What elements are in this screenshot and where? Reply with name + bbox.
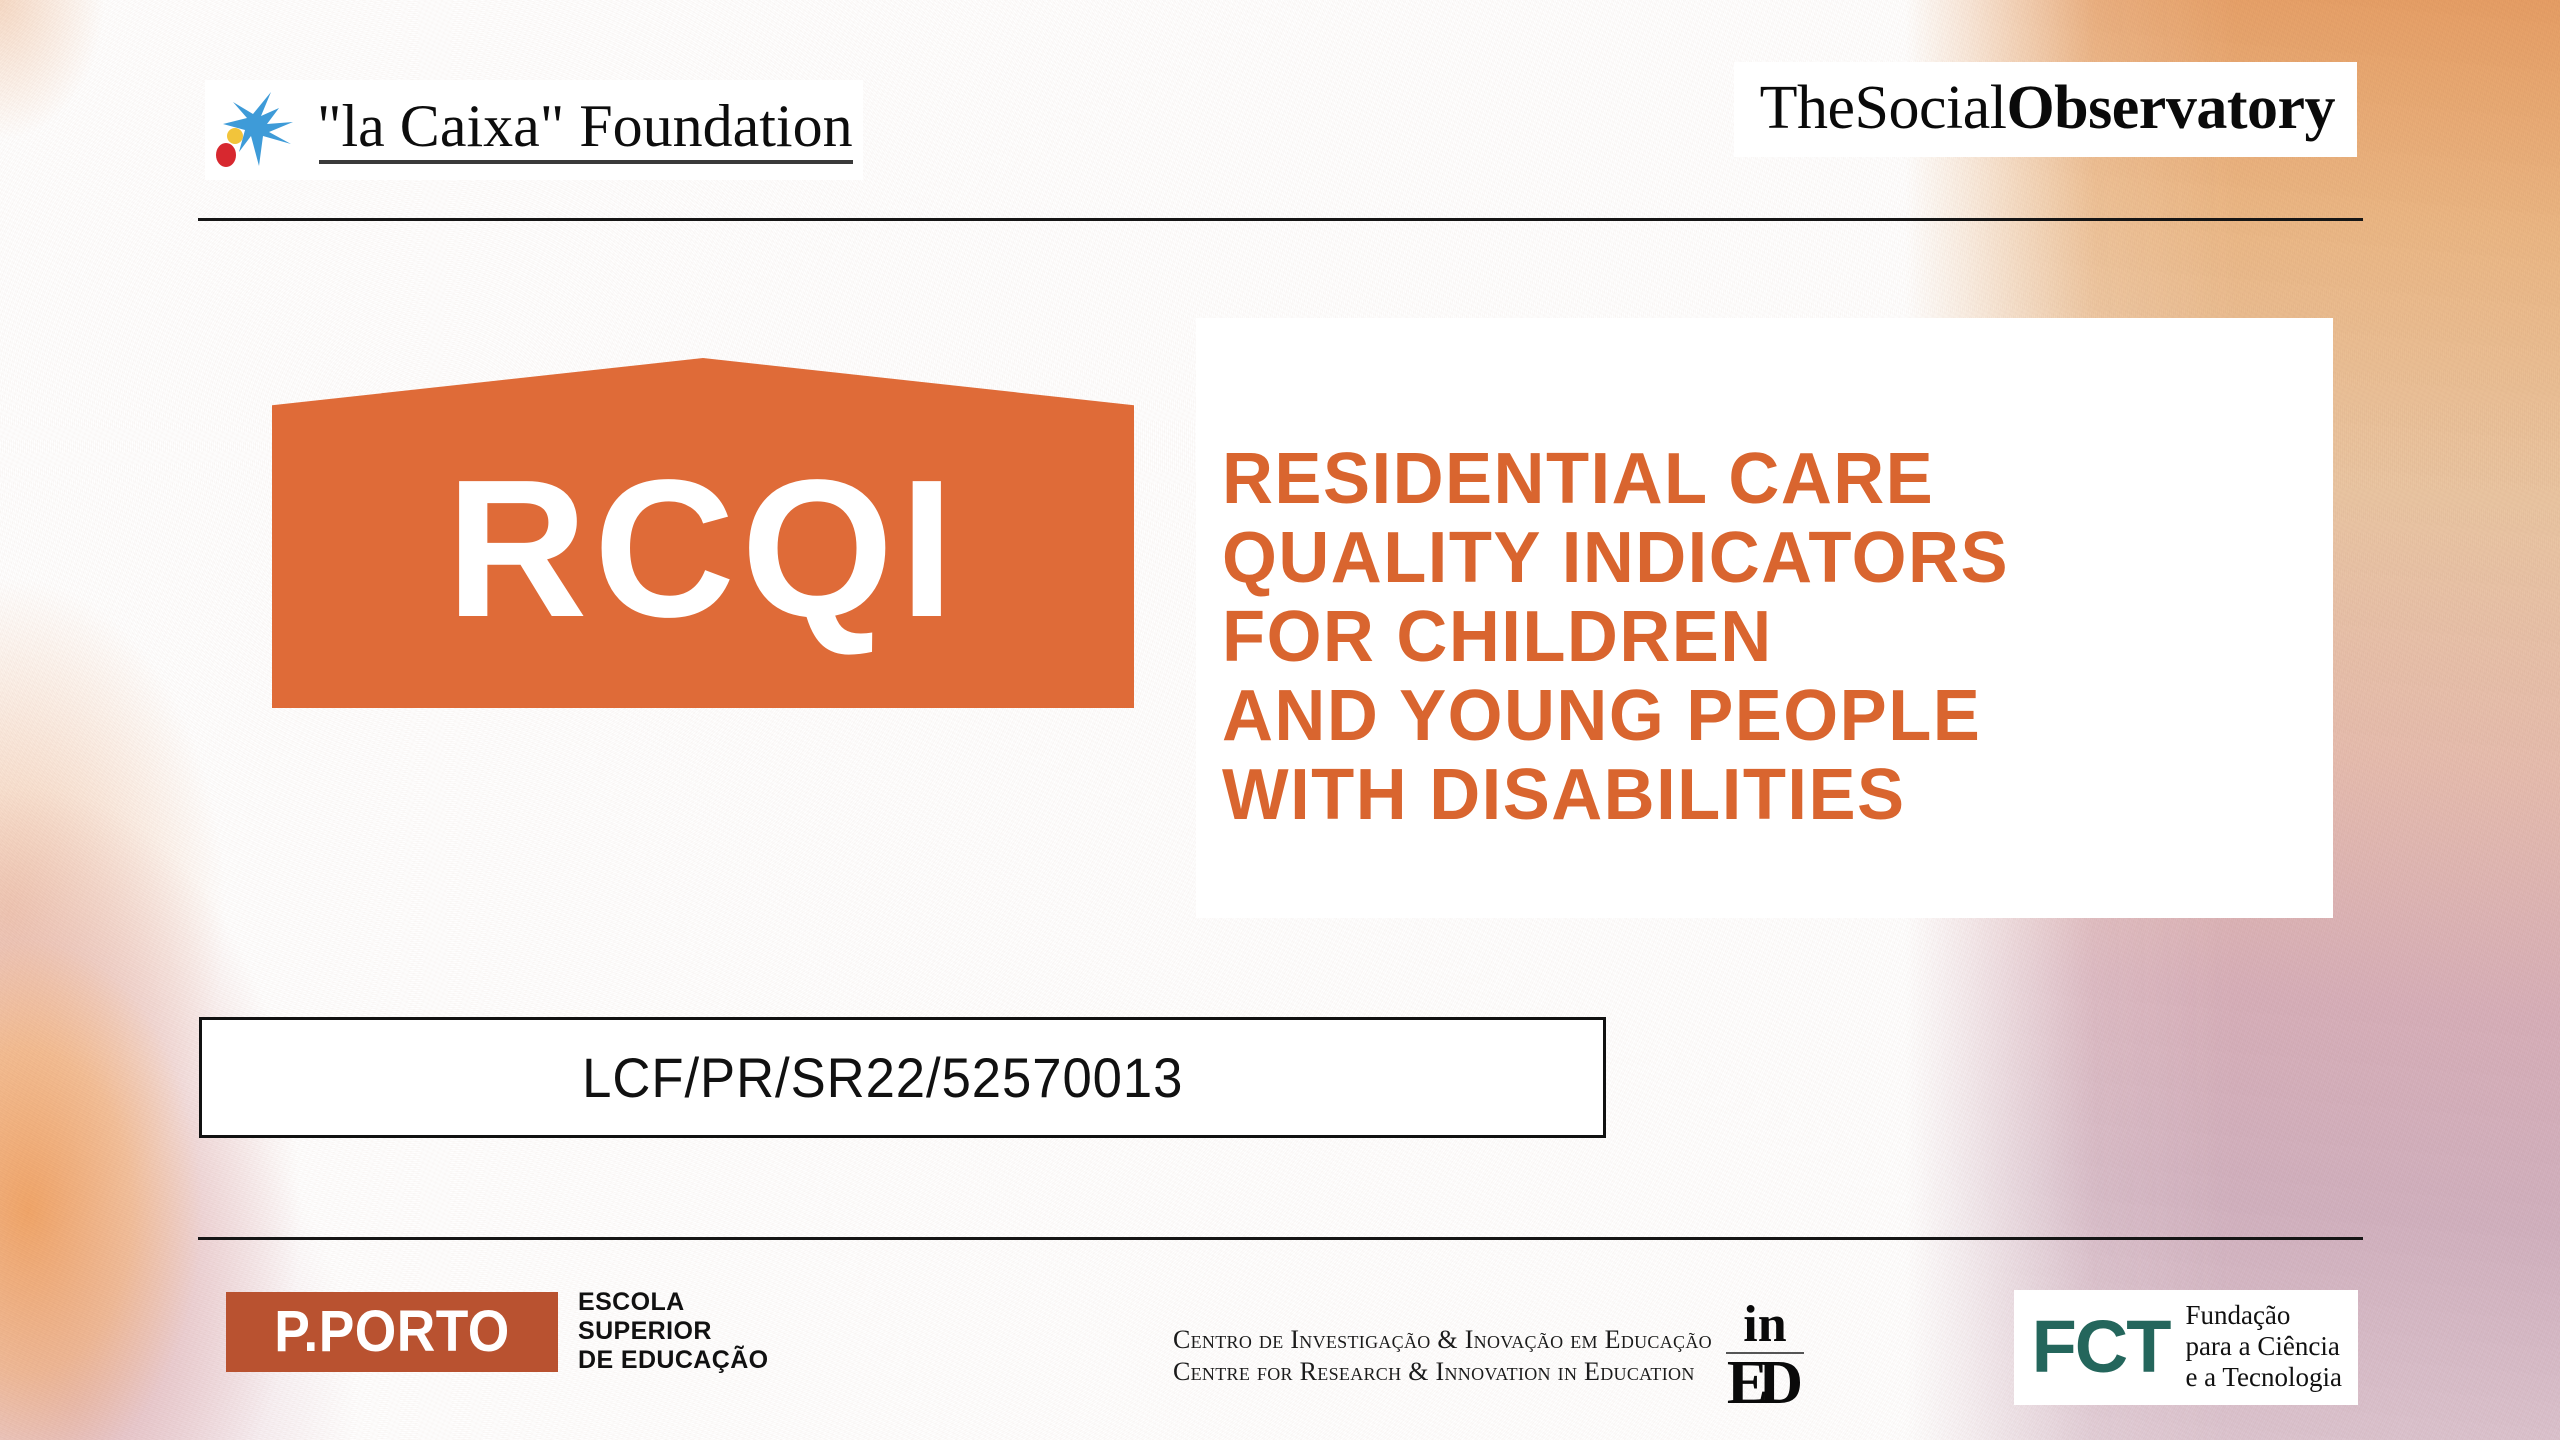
slide-canvas: "la Caixa" Foundation TheSocialObservato…	[0, 0, 2560, 1440]
grant-code-text: LCF/PR/SR22/52570013	[582, 1045, 1183, 1110]
title-line-3: FOR CHILDREN	[1222, 598, 2329, 677]
rcqi-logo: RCQI	[272, 358, 1134, 708]
pporto-subtitle-line-3: DE EDUCAÇÃO	[578, 1346, 769, 1375]
ined-monogram-bottom: ED	[1726, 1354, 1804, 1412]
fct-subtitle-line-2: para a Ciência	[2185, 1331, 2342, 1362]
title-line-4: AND YOUNG PEOPLE	[1222, 677, 2329, 756]
ined-logo: Centro de Investigação & Inovação em Edu…	[1173, 1300, 1804, 1412]
pporto-subtitle: ESCOLA SUPERIOR DE EDUCAÇÃO	[578, 1288, 769, 1375]
social-observatory-logo: TheSocialObservatory	[1734, 62, 2357, 157]
ined-monogram-top: in	[1726, 1300, 1804, 1350]
ined-line-portuguese: Centro de Investigação & Inovação em Edu…	[1173, 1324, 1712, 1356]
title-line-1: RESIDENTIAL CARE	[1222, 440, 2329, 519]
title-line-5: WITH DISABILITIES	[1222, 756, 2329, 835]
observatory-suffix: Observatory	[2006, 74, 2335, 142]
page-title: RESIDENTIAL CARE QUALITY INDICATORS FOR …	[1222, 440, 2352, 835]
pporto-subtitle-line-1: ESCOLA	[578, 1288, 769, 1317]
fct-acronym: FCT	[2032, 1310, 2170, 1384]
observatory-prefix: TheSocial	[1760, 74, 2007, 142]
header-divider	[198, 218, 2363, 221]
fct-logo: FCT Fundação para a Ciência e a Tecnolog…	[2014, 1290, 2358, 1405]
grant-code-box: LCF/PR/SR22/52570013	[199, 1017, 1606, 1138]
pporto-logo: P.PORTO ESCOLA SUPERIOR DE EDUCAÇÃO	[226, 1288, 769, 1375]
title-line-2: QUALITY INDICATORS	[1222, 519, 2329, 598]
la-caixa-wordmark: "la Caixa" Foundation	[317, 96, 853, 164]
ined-text-lines: Centro de Investigação & Inovação em Edu…	[1173, 1324, 1712, 1388]
ined-line-english: Centre for Research & Innovation in Educ…	[1173, 1356, 1712, 1388]
fct-subtitle: Fundação para a Ciência e a Tecnologia	[2185, 1300, 2342, 1393]
pporto-wordmark: P.PORTO	[274, 1303, 510, 1361]
pporto-logo-box: P.PORTO	[226, 1292, 558, 1372]
la-caixa-foundation-logo: "la Caixa" Foundation	[205, 80, 863, 180]
fct-subtitle-line-3: e a Tecnologia	[2185, 1362, 2342, 1393]
pporto-subtitle-line-2: SUPERIOR	[578, 1317, 769, 1346]
caixa-star-icon	[209, 86, 305, 174]
ined-monogram: in ED	[1726, 1300, 1804, 1412]
footer-divider	[198, 1237, 2363, 1240]
fct-subtitle-line-1: Fundação	[2185, 1300, 2342, 1331]
rcqi-logo-letters: RCQI	[272, 451, 1134, 647]
